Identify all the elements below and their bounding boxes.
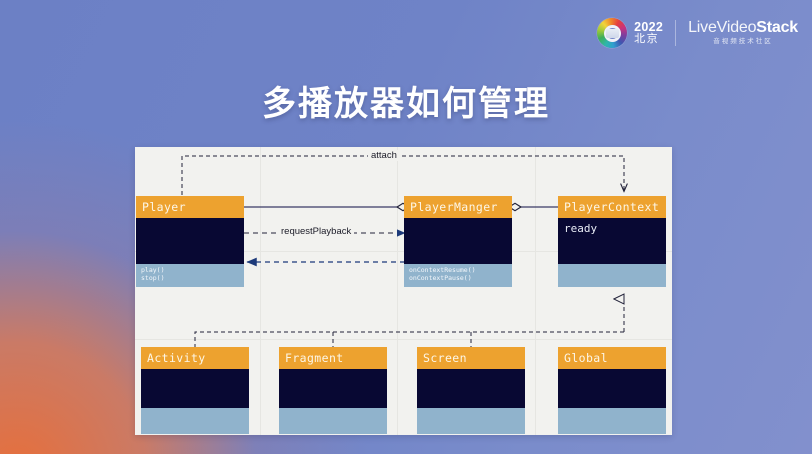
node-screen-title: Screen	[417, 347, 525, 369]
node-playermanger-title: PlayerManger	[404, 196, 512, 218]
node-activity-title: Activity	[141, 347, 249, 369]
page-title: 多播放器如何管理	[0, 76, 812, 125]
node-screen-methods	[417, 408, 525, 434]
event-logo-group: 2022 北京	[597, 18, 663, 48]
node-global[interactable]: Global	[558, 347, 666, 434]
brand-tagline: 音视频技术社区	[688, 39, 798, 46]
node-playercontext-methods	[558, 264, 666, 287]
node-global-title: Global	[558, 347, 666, 369]
node-player-methods: play() stop()	[136, 264, 244, 287]
wordmark-o: o	[748, 19, 757, 36]
node-global-body	[558, 369, 666, 408]
node-activity-body	[141, 369, 249, 408]
livevideostack-logo: LiveVideoStack 音视频技术社区	[688, 20, 798, 46]
wordmark-thin: iveVide	[697, 19, 748, 36]
node-activity[interactable]: Activity	[141, 347, 249, 434]
event-city: 北京	[634, 34, 663, 45]
livevideostack-wordmark: LiveVideoStack	[688, 20, 798, 37]
wordmark-lead: L	[688, 19, 697, 36]
brand-header: 2022 北京 LiveVideoStack 音视频技术社区	[597, 18, 798, 48]
node-fragment-methods	[279, 408, 387, 434]
node-playermanger-methods: onContextResume() onContextPause()	[404, 264, 512, 287]
node-fragment-title: Fragment	[279, 347, 387, 369]
node-playercontext-title: PlayerContext	[558, 196, 666, 218]
method-item: stop()	[141, 274, 244, 282]
node-player-title: Player	[136, 196, 244, 218]
ring-core-icon	[606, 29, 619, 38]
node-screen[interactable]: Screen	[417, 347, 525, 434]
brand-divider	[675, 20, 676, 46]
node-screen-body	[417, 369, 525, 408]
event-year: 2022	[634, 21, 663, 34]
node-fragment[interactable]: Fragment	[279, 347, 387, 434]
wordmark-bold: Stack	[756, 19, 798, 36]
event-year-city: 2022 北京	[634, 21, 663, 45]
method-item: onContextResume()	[409, 266, 512, 274]
node-playercontext-body: ready	[558, 218, 666, 264]
node-playermanger[interactable]: PlayerManger onContextResume() onContext…	[404, 196, 512, 287]
node-playercontext[interactable]: PlayerContext ready	[558, 196, 666, 287]
node-player[interactable]: Player play() stop()	[136, 196, 244, 287]
edge-label-request-playback: requestPlayback	[278, 226, 354, 237]
node-global-methods	[558, 408, 666, 434]
node-fragment-body	[279, 369, 387, 408]
node-playermanger-body	[404, 218, 512, 264]
method-item: play()	[141, 266, 244, 274]
edge-label-attach: attach	[368, 150, 400, 161]
lvs-colorful-ring-icon	[597, 18, 627, 48]
diagram-panel: attach requestPlayback Player play() sto…	[135, 147, 672, 435]
node-activity-methods	[141, 408, 249, 434]
node-player-body	[136, 218, 244, 264]
method-item: onContextPause()	[409, 274, 512, 282]
